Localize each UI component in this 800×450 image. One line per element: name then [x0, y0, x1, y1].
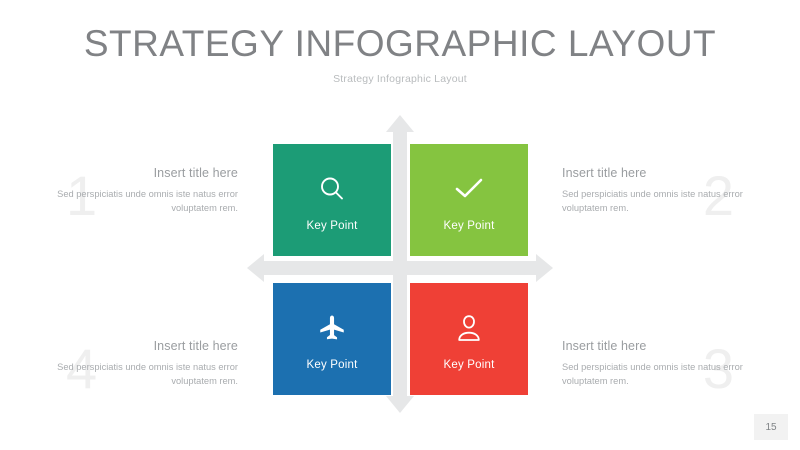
- quadrant-top-right[interactable]: Key Point: [410, 144, 528, 256]
- slide-header: STRATEGY INFOGRAPHIC LAYOUT Strategy Inf…: [0, 24, 800, 85]
- block-description: Sed perspiciatis unde omnis iste natus e…: [28, 187, 238, 215]
- info-block-1[interactable]: 1 Insert title here Sed perspiciatis und…: [28, 166, 238, 215]
- page-title: STRATEGY INFOGRAPHIC LAYOUT: [0, 24, 800, 64]
- info-block-2[interactable]: 2 Insert title here Sed perspiciatis und…: [562, 166, 772, 215]
- arrow-down-icon: [386, 396, 414, 413]
- user-icon: [455, 311, 483, 345]
- block-title: Insert title here: [562, 166, 772, 180]
- horizontal-axis-bar: [262, 261, 538, 275]
- quadrant-label: Key Point: [306, 220, 357, 232]
- info-block-4[interactable]: 4 Insert title here Sed perspiciatis und…: [28, 339, 238, 388]
- block-description: Sed perspiciatis unde omnis iste natus e…: [28, 360, 238, 388]
- block-title: Insert title here: [28, 166, 238, 180]
- arrow-left-icon: [247, 254, 264, 282]
- block-description: Sed perspiciatis unde omnis iste natus e…: [562, 187, 772, 215]
- page-subtitle: Strategy Infographic Layout: [0, 73, 800, 85]
- slide-canvas: STRATEGY INFOGRAPHIC LAYOUT Strategy Inf…: [0, 0, 800, 450]
- quadrant-bottom-right[interactable]: Key Point: [410, 283, 528, 395]
- page-number-badge: 15: [754, 414, 788, 440]
- quadrant-bottom-left[interactable]: Key Point: [273, 283, 391, 395]
- quadrant-label: Key Point: [443, 220, 494, 232]
- airplane-icon: [317, 311, 347, 345]
- arrow-right-icon: [536, 254, 553, 282]
- quadrant-label: Key Point: [443, 359, 494, 371]
- quadrant-label: Key Point: [306, 359, 357, 371]
- magnifier-icon: [317, 172, 347, 206]
- block-title: Insert title here: [28, 339, 238, 353]
- check-icon: [453, 172, 485, 206]
- arrow-up-icon: [386, 115, 414, 132]
- quadrant-top-left[interactable]: Key Point: [273, 144, 391, 256]
- block-description: Sed perspiciatis unde omnis iste natus e…: [562, 360, 772, 388]
- info-block-3[interactable]: 3 Insert title here Sed perspiciatis und…: [562, 339, 772, 388]
- block-title: Insert title here: [562, 339, 772, 353]
